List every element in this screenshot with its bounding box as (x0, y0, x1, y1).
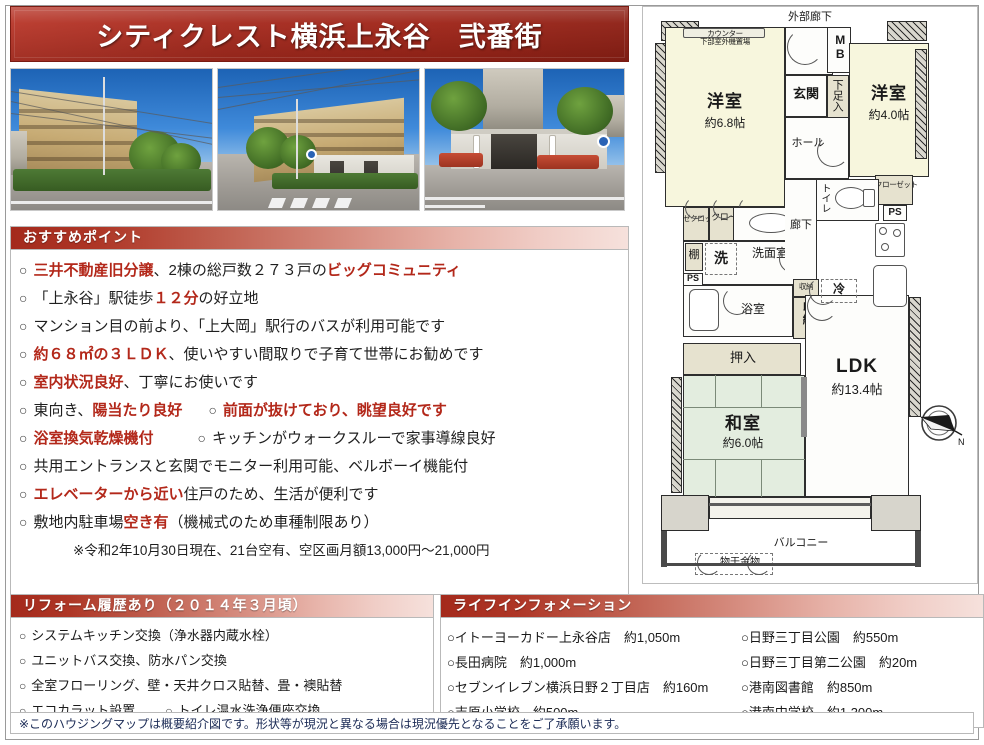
point-row: ○室内状況良好、丁寧にお使いです (19, 371, 620, 392)
recommended-points-title: おすすめポイント (11, 230, 143, 245)
floor-plan-label-tana: 棚 (685, 249, 703, 261)
point-row: ○エレベーターから近い住戸のため、生活が便利です (19, 483, 620, 504)
life-item: ○イトーヨーカドー上永谷店 約1,050m (447, 625, 737, 650)
property-title-banner: シティクレスト横浜上永谷 弐番街 (10, 6, 629, 62)
floor-plan-label-sen: 洗 (705, 251, 737, 266)
ldk-door-arc (807, 291, 837, 321)
hall-door-arc (817, 135, 849, 167)
floor-plan-label-rouka: 廊下 (781, 219, 821, 231)
bullet-circle-icon: ○ (19, 629, 26, 643)
wall-hatch-left (655, 43, 666, 173)
page-title: シティクレスト横浜上永谷 弐番街 (96, 15, 542, 54)
floor-plan-label-washitsu: 和室 (693, 415, 793, 434)
floor-plan-label-ldk-size: 約13.4帖 (809, 383, 905, 397)
life-information-header: ライフインフォメーション (440, 594, 984, 618)
housing-map-page: シティクレスト横浜上永谷 弐番街 (0, 0, 984, 745)
bullet-circle-icon: ○ (19, 374, 27, 390)
recommended-points-body: ○三井不動産旧分譲、2棟の総戸数２７３戸のビッグコミュニティ ○「上永谷」駅徒歩… (10, 250, 629, 595)
floor-plan-label-oshiire: 押入 (703, 351, 783, 365)
point-item: ○三井不動産旧分譲、2棟の総戸数２７３戸のビッグコミュニティ (19, 259, 461, 280)
sliding-partition (801, 377, 807, 437)
bullet-circle-icon: ○ (19, 402, 27, 418)
balcony-sill (709, 497, 871, 519)
recommended-points-section: おすすめポイント ○三井不動産旧分譲、2棟の総戸数２７３戸のビッグコミュニティ … (10, 226, 629, 595)
floor-plan-label-washitsu-size: 約6.0帖 (693, 437, 793, 450)
floor-plan-panel: 外部廊下 洋室 約6.8帖 カウンター 下部室外機置場 玄関 下足入 M (642, 6, 978, 584)
compass-rose-icon: N (915, 397, 967, 449)
floor-plan-label-yoshitsu-a: 洋室 (685, 93, 765, 112)
point-row: ○敷地内駐車場空き有（機械式のため車種制限あり） (19, 511, 620, 532)
reform-row: ○全室フローリング、壁・天井クロス貼替、畳・襖貼替 (19, 675, 425, 694)
reform-item: ○システムキッチン交換（浄水器内蔵水栓） (19, 625, 278, 644)
exterior-photo-strip (10, 68, 629, 211)
exterior-photo-3 (424, 68, 625, 211)
balcony-outer-rail (661, 563, 921, 566)
exterior-photo-2 (217, 68, 420, 211)
floor-plan-label-ps-left: PS (683, 274, 703, 284)
point-item: ○共用エントランスと玄関でモニター利用可能、ベルボーイ機能付 (19, 455, 468, 476)
point-row: ○三井不動産旧分譲、2棟の総戸数２７３戸のビッグコミュニティ (19, 259, 620, 280)
reform-history-header: リフォーム履歴あり（２０１４年３月頃） (10, 594, 434, 618)
floor-plan-label-balcony: バルコニー (761, 537, 841, 549)
floor-plan-label-ldk: LDK (809, 357, 905, 378)
reform-history-section: リフォーム履歴あり（２０１４年３月頃） ○システムキッチン交換（浄水器内蔵水栓）… (10, 594, 434, 728)
life-item: ○日野三丁目第二公園 約20m (741, 650, 977, 675)
reform-item: ○全室フローリング、壁・天井クロス貼替、畳・襖貼替 (19, 675, 342, 694)
floor-plan-label-geta-ire: 下足入 (831, 79, 843, 112)
bullet-circle-icon: ○ (19, 430, 27, 446)
wall-hatch-top-right (887, 21, 927, 41)
point-item: ○敷地内駐車場空き有（機械式のため車種制限あり） (19, 511, 379, 532)
balcony-wall-right (871, 495, 921, 531)
bullet-circle-icon: ○ (197, 430, 205, 446)
bullet-circle-icon: ○ (19, 679, 26, 693)
bathtub-fixture (689, 289, 719, 331)
bullet-circle-icon: ○ (19, 654, 26, 668)
kitchen-sink-fixture (873, 265, 907, 307)
entrance-door-arc (787, 29, 823, 65)
point-row: ○「上永谷」駅徒歩１２分の好立地 (19, 287, 620, 308)
floor-plan-label-toilet: トイレ (819, 183, 830, 213)
point-item: ○前面が抜けており、眺望良好です (208, 399, 446, 420)
bullet-circle-icon: ○ (19, 290, 27, 306)
point-row: ○浴室換気乾燥機付 ○キッチンがウォークスルーで家事導線良好 (19, 427, 620, 448)
floor-plan-label-counter-sub: 下部室外機置場 (683, 38, 767, 46)
bath-door-arc (723, 287, 751, 315)
life-item: ○セブンイレブン横浜日野２丁目店 約160m (447, 675, 737, 700)
footer-disclaimer-text: ※このハウジングマップは概要紹介図です。形状等が現況と異なる場合は現況優先となる… (11, 715, 626, 732)
reform-row: ○ユニットバス交換、防水パン交換 (19, 650, 425, 669)
point-item: ○エレベーターから近い住戸のため、生活が便利です (19, 483, 379, 504)
life-item: ○港南図書館 約850m (741, 675, 977, 700)
life-information-title: ライフインフォメーション (441, 598, 632, 613)
floor-plan-label-mb: MB (833, 33, 846, 61)
exterior-photo-1 (10, 68, 213, 211)
point-item: ○キッチンがウォークスルーで家事導線良好 (197, 427, 495, 448)
floor-plan-label-gaibu-rouka: 外部廊下 (775, 11, 845, 23)
closet-door-arc-1 (685, 197, 707, 219)
balcony-wall-left (661, 495, 709, 531)
point-item: ○室内状況良好、丁寧にお使いです (19, 371, 258, 392)
bullet-circle-icon: ○ (19, 262, 27, 278)
bullet-circle-icon: ○ (19, 458, 27, 474)
point-row: ○マンション目の前より、「上大岡」駅行のバスが利用可能です (19, 315, 620, 336)
reform-row: ○システムキッチン交換（浄水器内蔵水栓） (19, 625, 425, 644)
reform-history-title: リフォーム履歴あり（２０１４年３月頃） (11, 598, 308, 613)
bullet-circle-icon: ○ (19, 486, 27, 502)
svg-text:N: N (958, 437, 965, 447)
point-item: ○東向き、陽当たり良好 (19, 399, 182, 420)
life-information-section: ライフインフォメーション ○イトーヨーカドー上永谷店 約1,050m ○日野三丁… (440, 594, 984, 728)
life-item: ○日野三丁目公園 約550m (741, 625, 977, 650)
bullet-circle-icon: ○ (19, 346, 27, 362)
reform-item: ○ユニットバス交換、防水パン交換 (19, 650, 227, 669)
point-item: ○約６８㎡の３ＬＤＫ、使いやすい間取りで子育て世帯にお勧めです (19, 343, 484, 364)
point-item: ○マンション目の前より、「上大岡」駅行のバスが利用可能です (19, 315, 445, 336)
wall-hatch-left-lower (671, 377, 682, 493)
room-rouka (785, 179, 817, 285)
floor-plan-label-closet-right: クローゼット (875, 181, 913, 189)
closet-door-arc-2 (713, 197, 735, 219)
point-item: ○「上永谷」駅徒歩１２分の好立地 (19, 287, 259, 308)
point-row: ○共用エントランスと玄関でモニター利用可能、ベルボーイ機能付 (19, 455, 620, 476)
life-item: ○長田病院 約1,000m (447, 650, 737, 675)
footer-disclaimer: ※このハウジングマップは概要紹介図です。形状等が現況と異なる場合は現況優先となる… (10, 712, 974, 734)
bullet-circle-icon: ○ (19, 514, 27, 530)
left-column: シティクレスト横浜上永谷 弐番街 (10, 6, 635, 729)
toilet-tank-fixture (863, 189, 875, 207)
floor-plan-label-genkan: 玄関 (785, 87, 827, 101)
floor-plan-drawing: 外部廊下 洋室 約6.8帖 カウンター 下部室外機置場 玄関 下足入 M (643, 7, 977, 583)
point-row: ○約６８㎡の３ＬＤＫ、使いやすい間取りで子育て世帯にお勧めです (19, 343, 620, 364)
point-item: ○浴室換気乾燥機付 (19, 427, 153, 448)
floor-plan-label-ps-right: PS (883, 207, 907, 218)
bullet-circle-icon: ○ (208, 402, 216, 418)
floor-plan-label-yoshitsu-a-size: 約6.8帖 (685, 117, 765, 130)
wall-hatch-right-upper (915, 49, 927, 159)
parking-availability-note: ※令和2年10月30日現在、21台空有、空区画月額13,000円～21,000円 (73, 539, 620, 559)
bullet-circle-icon: ○ (19, 318, 27, 334)
point-row: ○東向き、陽当たり良好 ○前面が抜けており、眺望良好です (19, 399, 620, 420)
recommended-points-header: おすすめポイント (10, 226, 629, 250)
